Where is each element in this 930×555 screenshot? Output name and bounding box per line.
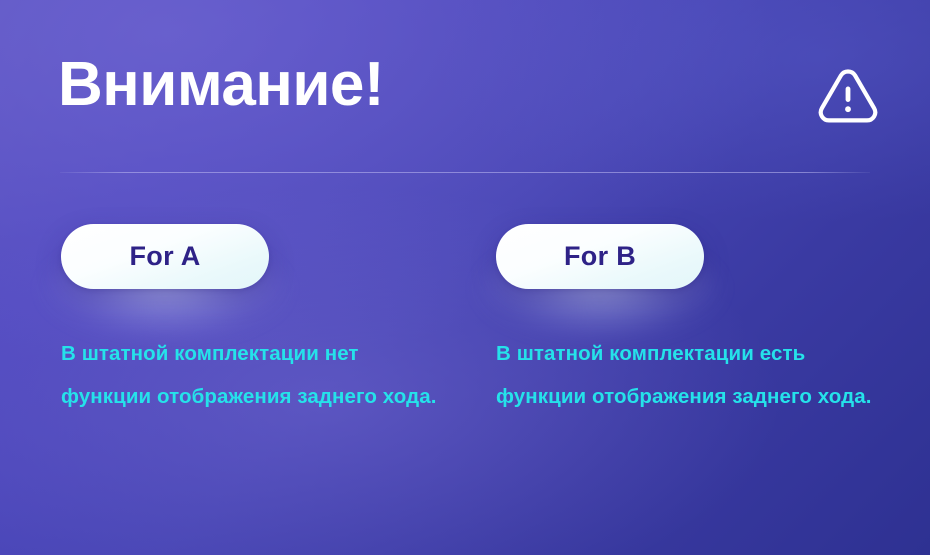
for-a-button[interactable]: For A bbox=[61, 224, 269, 289]
page-title: Внимание! bbox=[58, 52, 384, 117]
slide-content: Внимание! For A В штатной комплектации н… bbox=[0, 0, 930, 555]
option-column-b: For B В штатной комплектации есть функци… bbox=[496, 224, 916, 289]
for-a-button-label: For A bbox=[130, 243, 201, 270]
option-a-description: В штатной комплектации нет функции отобр… bbox=[61, 332, 451, 418]
option-column-a: For A В штатной комплектации нет функции… bbox=[61, 224, 481, 289]
pill-wrapper-b: For B bbox=[496, 224, 704, 289]
slide-background: Внимание! For A В штатной комплектации н… bbox=[0, 0, 930, 555]
warning-triangle-icon bbox=[814, 62, 882, 130]
pill-wrapper-a: For A bbox=[61, 224, 269, 289]
for-b-button-label: For B bbox=[564, 243, 636, 270]
for-b-button[interactable]: For B bbox=[496, 224, 704, 289]
header-divider bbox=[60, 172, 870, 173]
option-b-description: В штатной комплектации есть функции отоб… bbox=[496, 332, 891, 418]
